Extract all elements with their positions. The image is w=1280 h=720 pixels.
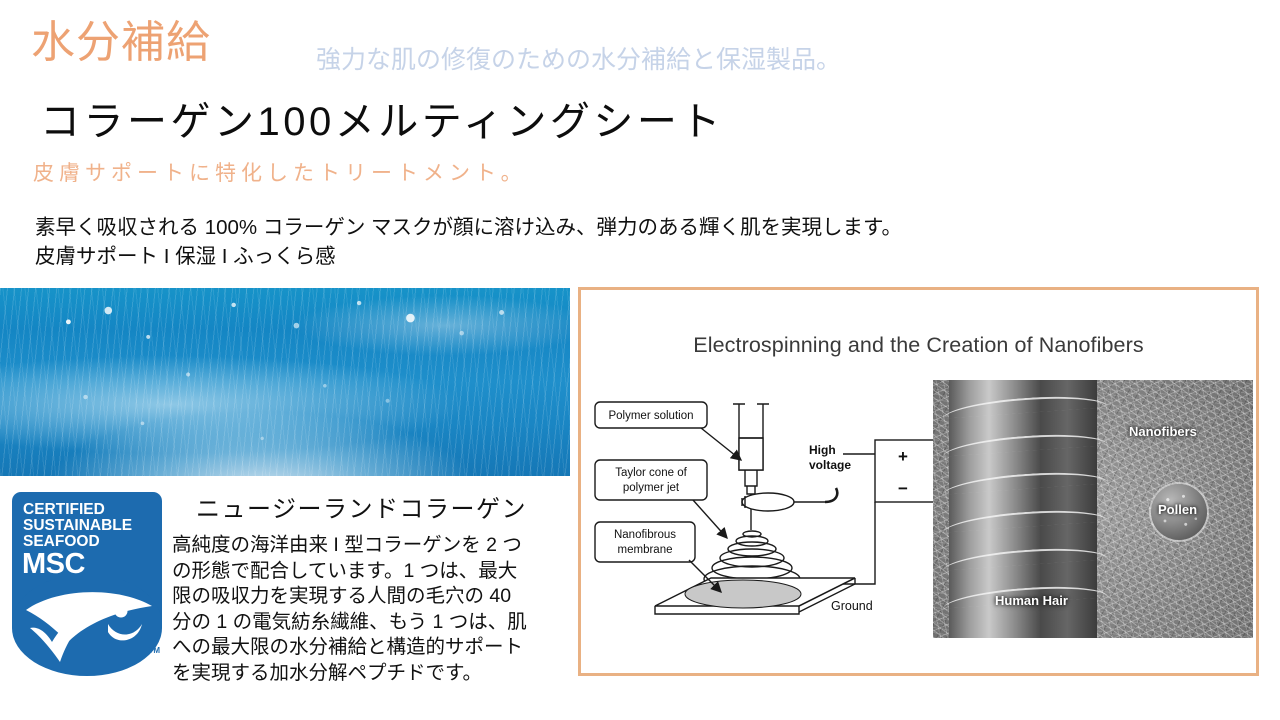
msc-certification-logo: CERTIFIED SUSTAINABLE SEAFOOD MSC www.ms… [12, 492, 162, 677]
label-taylor-cone-line2: polymer jet [623, 482, 680, 494]
sem-label-nanofibers: Nanofibers [1129, 424, 1197, 439]
label-nanofibrous-line1: Nanofibrous [614, 529, 676, 541]
collagen-body-line: 高純度の海洋由来 I 型コラーゲンを 2 つ [172, 533, 572, 559]
collagen-body-line: 分の 1 の電気紡糸繊維、もう 1 つは、肌 [172, 610, 572, 636]
collagen-body-line: の形態で配合しています。1 つは、最大 [172, 559, 572, 585]
label-taylor-cone-line1: Taylor cone of [615, 467, 687, 479]
collagen-body-line: への最大限の水分補給と構造的サポート [172, 635, 572, 661]
msc-abbreviation: MSC [22, 549, 85, 579]
label-polymer-solution: Polymer solution [608, 410, 693, 422]
collagen-section-body: 高純度の海洋由来 I 型コラーゲンを 2 つ の形態で配合しています。1 つは、… [172, 533, 572, 686]
page-kicker: 水分補給 [31, 17, 211, 69]
diagram-title: Electrospinning and the Creation of Nano… [581, 332, 1256, 358]
page-kicker-subtitle: 強力な肌の修復のための水分補給と保湿製品。 [316, 44, 841, 76]
sem-micrograph: Nanofibers Pollen Human Hair [933, 380, 1253, 638]
sem-label-pollen: Pollen [1158, 502, 1197, 517]
msc-trademark-mark: TM [148, 646, 160, 655]
label-negative-terminal: − [898, 479, 908, 498]
product-description: 素早く吸収される 100% コラーゲン マスクが顔に溶け込み、弾力のある輝く肌を… [35, 213, 1135, 271]
collagen-body-line: 限の吸収力を実現する人間の毛穴の 40 [172, 584, 572, 610]
label-ground: Ground [831, 599, 873, 613]
msc-label-sustainable: SUSTAINABLE [23, 518, 132, 534]
description-line-2: 皮膚サポート I 保湿 I ふっくら感 [35, 242, 1135, 271]
collagen-body-line: を実現する加水分解ペプチドです。 [172, 661, 572, 687]
page-title: コラーゲン100メルティングシート [40, 97, 724, 147]
msc-label-certified: CERTIFIED [23, 502, 105, 518]
label-positive-terminal: + [898, 447, 908, 466]
electrospinning-panel: Electrospinning and the Creation of Nano… [578, 287, 1259, 676]
label-nanofibrous-line2: membrane [618, 544, 673, 556]
sem-label-human-hair: Human Hair [995, 593, 1068, 608]
label-high-voltage-line2: voltage [809, 458, 851, 472]
label-high-voltage-line1: High [809, 443, 836, 457]
description-line-1: 素早く吸収される 100% コラーゲン マスクが顔に溶け込み、弾力のある輝く肌を… [35, 213, 1135, 242]
ocean-bubbles [0, 288, 570, 476]
underwater-ocean-photo [0, 288, 570, 476]
electrospinning-schematic: Polymer solution Taylor cone of polymer … [593, 398, 953, 646]
msc-fish-checkmark-icon [12, 580, 162, 677]
product-subtitle: 皮膚サポートに特化したトリートメント。 [33, 160, 527, 188]
collagen-section-heading: ニュージーランドコラーゲン [196, 495, 527, 525]
